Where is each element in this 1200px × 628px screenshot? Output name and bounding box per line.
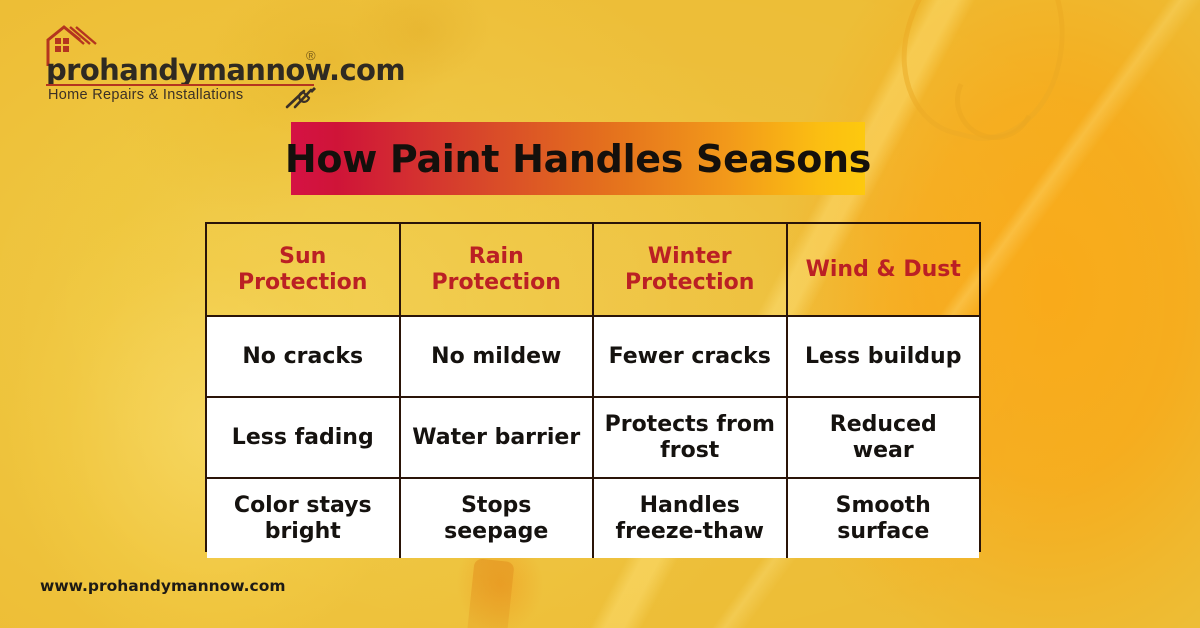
table-cell: Smooth surface bbox=[788, 479, 980, 558]
table-cell: Stops seepage bbox=[401, 479, 595, 558]
table-cell: Fewer cracks bbox=[594, 317, 788, 396]
table-header-row: Sun Protection Rain Protection Winter Pr… bbox=[207, 224, 979, 315]
table-cell: Less fading bbox=[207, 398, 401, 477]
table-cell: Water barrier bbox=[401, 398, 595, 477]
footer-website-url[interactable]: www.prohandymannow.com bbox=[40, 577, 286, 595]
wrench-screwdriver-icon bbox=[284, 84, 318, 110]
logo-divider bbox=[46, 84, 314, 86]
table-cell: Less buildup bbox=[788, 317, 980, 396]
title-banner: How Paint Handles Seasons bbox=[291, 122, 865, 195]
brand-logo[interactable]: prohandymannow.com ® Home Repairs & Inst… bbox=[38, 22, 328, 102]
table-header-winter-protection: Winter Protection bbox=[594, 224, 788, 315]
table-row: No cracks No mildew Fewer cracks Less bu… bbox=[207, 315, 979, 396]
logo-tagline: Home Repairs & Installations bbox=[48, 87, 243, 103]
table-header-rain-protection: Rain Protection bbox=[401, 224, 595, 315]
table-cell: Reduced wear bbox=[788, 398, 980, 477]
infographic-canvas: prohandymannow.com ® Home Repairs & Inst… bbox=[0, 0, 1200, 628]
page-title: How Paint Handles Seasons bbox=[285, 137, 871, 181]
background-lower-shape-2 bbox=[465, 558, 514, 628]
logo-wordmark: prohandymannow.com bbox=[46, 53, 405, 87]
table-row: Less fading Water barrier Protects from … bbox=[207, 396, 979, 477]
table-cell: Color stays bright bbox=[207, 479, 401, 558]
table-header-sun-protection: Sun Protection bbox=[207, 224, 401, 315]
table-header-wind-and-dust: Wind & Dust bbox=[788, 224, 980, 315]
table-row: Color stays bright Stops seepage Handles… bbox=[207, 477, 979, 558]
table-cell: Handles freeze-thaw bbox=[594, 479, 788, 558]
registered-trademark-icon: ® bbox=[306, 48, 316, 63]
table-cell: No mildew bbox=[401, 317, 595, 396]
seasons-table: Sun Protection Rain Protection Winter Pr… bbox=[205, 222, 981, 552]
table-cell: Protects from frost bbox=[594, 398, 788, 477]
table-cell: No cracks bbox=[207, 317, 401, 396]
